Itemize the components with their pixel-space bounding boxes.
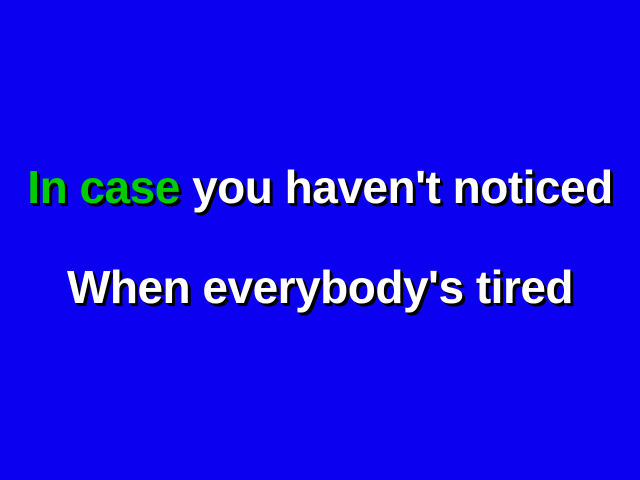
lyric-line-next: When everybody's tired [0,264,640,310]
lyric-pending-text: When everybody's tired [67,261,573,313]
lyric-line-current: In case you haven't noticed [0,164,640,210]
lyric-pending-text: you haven't noticed [192,161,613,213]
karaoke-screen: In case you haven't noticed When everybo… [0,0,640,480]
lyric-sung-text: In case [27,161,192,213]
